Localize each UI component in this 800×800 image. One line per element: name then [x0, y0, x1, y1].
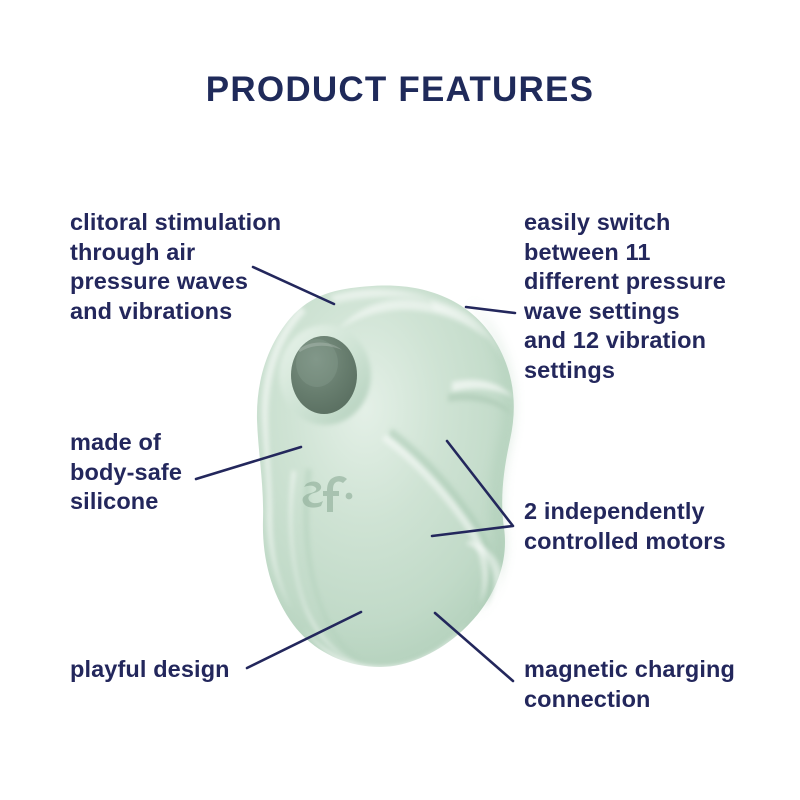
leader-line-magnetic-charging: [435, 613, 513, 681]
leader-line-playful-design: [247, 612, 361, 668]
leader-line-body-safe-silicone: [196, 447, 301, 479]
product-features-diagram: PRODUCT FEATURES: [0, 0, 800, 800]
leader-line-clitoral-stimulation: [253, 267, 334, 304]
leader-line-two-motors: [432, 441, 513, 536]
leader-lines: [0, 0, 800, 800]
leader-line-pressure-wave-settings: [466, 307, 515, 313]
